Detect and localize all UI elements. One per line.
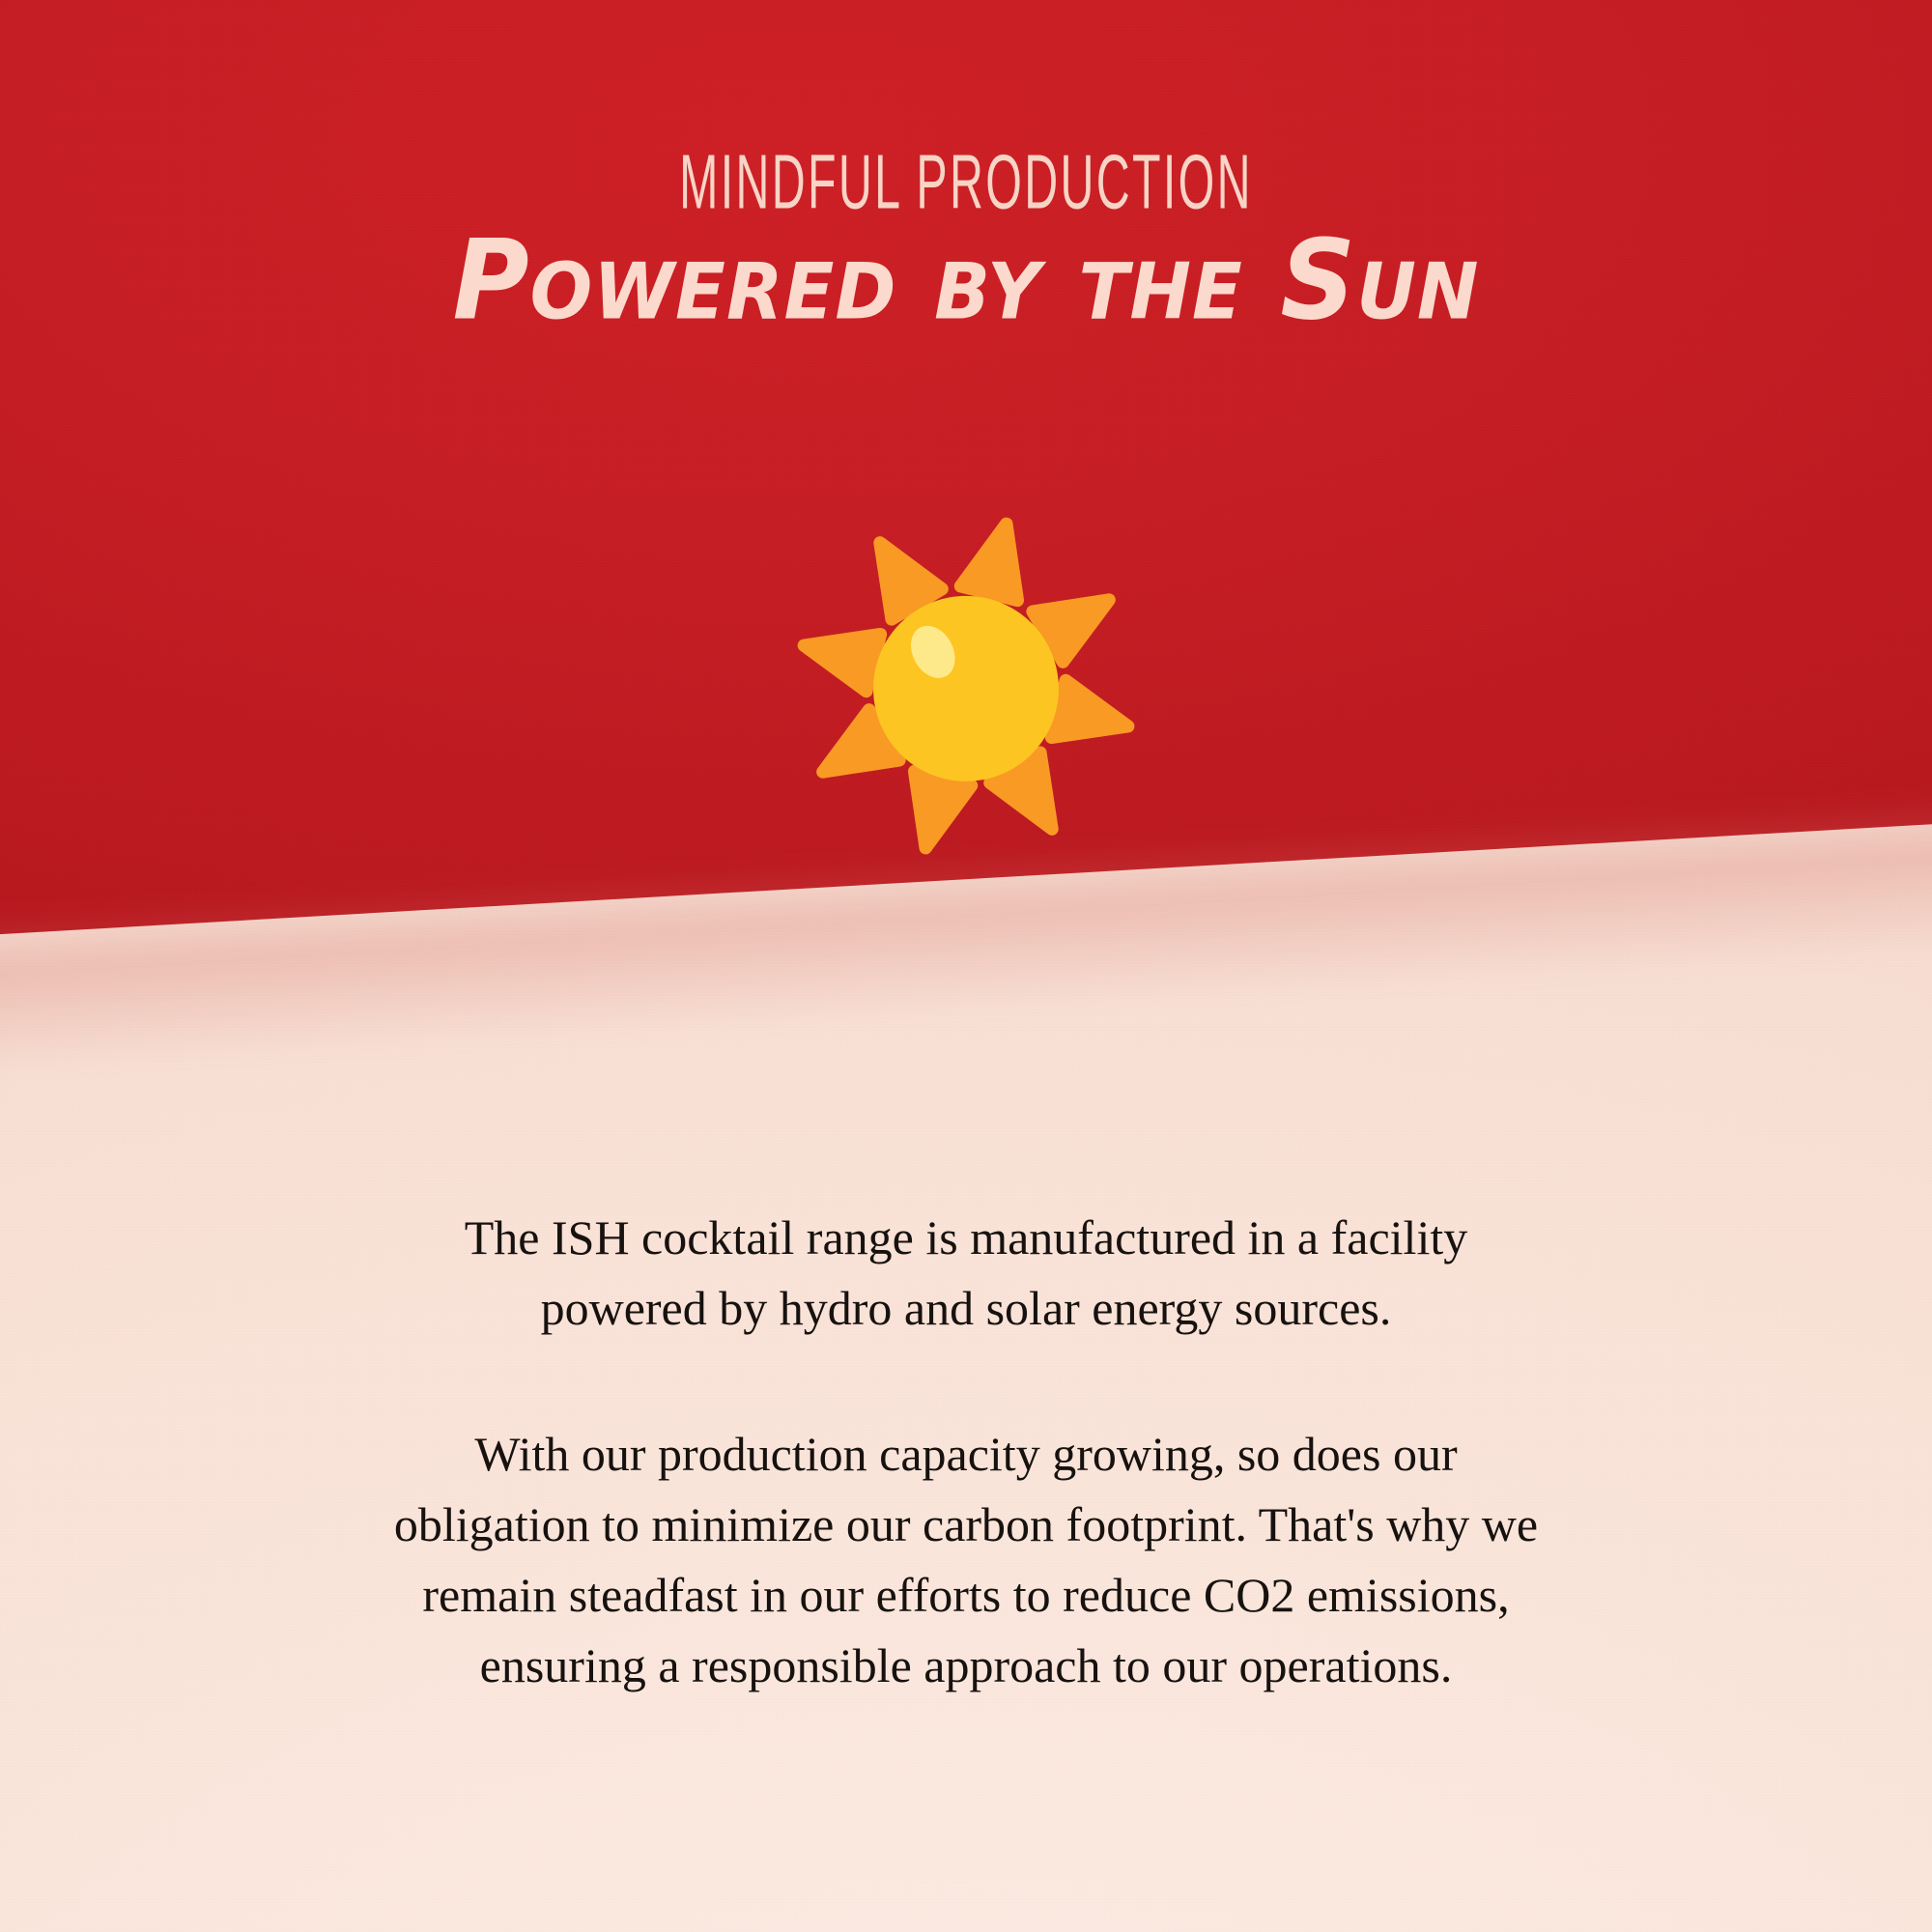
paragraph-1-line-1: The ISH cocktail range is manufactured i… — [328, 1203, 1604, 1273]
page-title: Powered by the Sun — [0, 226, 1932, 336]
sun-icon — [782, 502, 1150, 869]
poster-canvas: MINDFUL PRODUCTION Powered by the Sun — [0, 0, 1932, 1932]
paragraph-2-line-4: ensuring a responsible approach to our o… — [328, 1631, 1604, 1701]
header-block: MINDFUL PRODUCTION Powered by the Sun — [0, 145, 1932, 330]
paragraph-1: The ISH cocktail range is manufactured i… — [328, 1203, 1604, 1344]
body-copy: The ISH cocktail range is manufactured i… — [328, 1203, 1604, 1701]
paragraph-2-line-2: obligation to minimize our carbon footpr… — [328, 1490, 1604, 1560]
paragraph-1-line-2: powered by hydro and solar energy source… — [328, 1273, 1604, 1344]
paragraph-2-line-3: remain steadfast in our efforts to reduc… — [328, 1560, 1604, 1631]
paragraph-2: With our production capacity growing, so… — [328, 1419, 1604, 1701]
kicker-text: MINDFUL PRODUCTION — [213, 145, 1719, 221]
paragraph-2-line-1: With our production capacity growing, so… — [328, 1419, 1604, 1490]
